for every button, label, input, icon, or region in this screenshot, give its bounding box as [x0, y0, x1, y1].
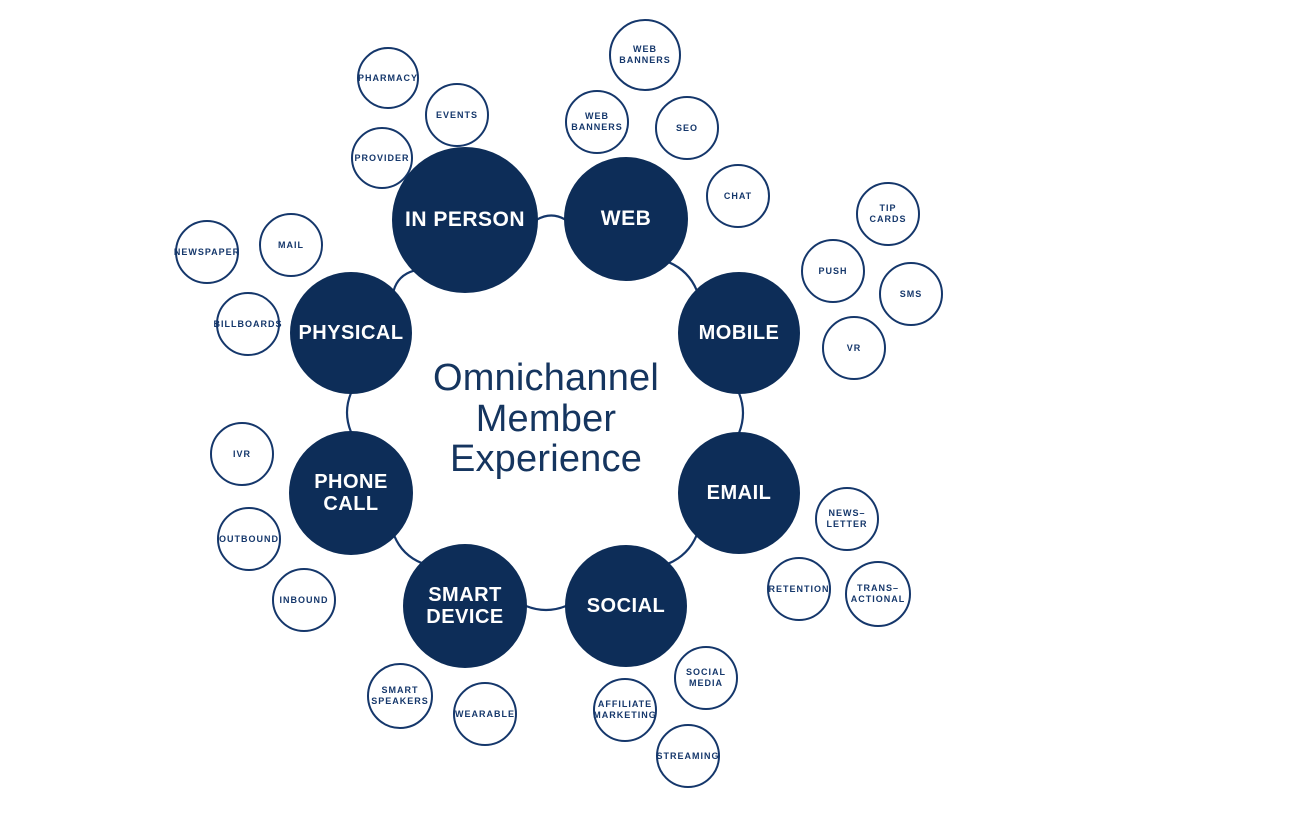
node-label: MOBILE — [695, 322, 784, 344]
connector-in-person-to-web — [537, 215, 565, 219]
node-label: PHARMACY — [354, 73, 422, 84]
node-label: SOCIAL MEDIA — [682, 667, 730, 688]
node-label: PHYSICAL — [294, 322, 407, 344]
spoke-node-newspaper[interactable]: NEWSPAPER — [175, 220, 239, 284]
connector-mobile-to-email — [739, 393, 743, 433]
spoke-node-newsletter[interactable]: NEWS– LETTER — [815, 487, 879, 551]
spoke-node-web-banners-left[interactable]: WEB BANNERS — [565, 90, 629, 154]
hub-node-social[interactable]: SOCIAL — [565, 545, 687, 667]
node-label: WEB — [597, 207, 656, 231]
spoke-node-web-banners-top[interactable]: WEB BANNERS — [609, 19, 681, 91]
connector-physical-to-in-person — [394, 271, 414, 291]
node-label: EVENTS — [432, 110, 482, 121]
spoke-node-seo[interactable]: SEO — [655, 96, 719, 160]
spoke-node-mail[interactable]: MAIL — [259, 213, 323, 277]
node-label: SOCIAL — [583, 595, 670, 617]
node-label: SMS — [896, 289, 927, 300]
spoke-node-retention[interactable]: RETENTION — [767, 557, 831, 621]
hub-node-email[interactable]: EMAIL — [678, 432, 800, 554]
spoke-node-smart-speakers[interactable]: SMART SPEAKERS — [367, 663, 433, 729]
node-label: SMART SPEAKERS — [367, 685, 433, 706]
connector-social-to-smart-device — [526, 606, 566, 610]
spoke-node-vr[interactable]: VR — [822, 316, 886, 380]
hub-node-physical[interactable]: PHYSICAL — [290, 272, 412, 394]
connector-smart-device-to-phone-call — [394, 536, 421, 563]
node-label: TIP CARDS — [858, 203, 918, 224]
node-label: EMAIL — [703, 482, 776, 504]
node-label: VR — [843, 343, 866, 354]
connector-email-to-social — [668, 535, 696, 563]
spoke-node-streaming[interactable]: STREAMING — [656, 724, 720, 788]
spoke-node-billboards[interactable]: BILLBOARDS — [216, 292, 280, 356]
omnichannel-diagram: Omnichannel Member Experience PHARMACYEV… — [0, 0, 1289, 821]
node-label: WEB BANNERS — [615, 44, 675, 65]
spoke-node-outbound[interactable]: OUTBOUND — [217, 507, 281, 571]
hub-node-web[interactable]: WEB — [564, 157, 688, 281]
node-label: IN PERSON — [401, 208, 529, 232]
hub-node-in-person[interactable]: IN PERSON — [392, 147, 538, 293]
node-label: NEWSPAPER — [170, 247, 244, 258]
spoke-node-social-media[interactable]: SOCIAL MEDIA — [674, 646, 738, 710]
hub-node-smart-device[interactable]: SMART DEVICE — [403, 544, 527, 668]
node-label: NEWS– LETTER — [823, 508, 872, 529]
hub-node-mobile[interactable]: MOBILE — [678, 272, 800, 394]
node-label: RETENTION — [765, 584, 834, 595]
spoke-node-transactional[interactable]: TRANS– ACTIONAL — [845, 561, 911, 627]
node-label: AFFILIATE MARKETING — [589, 699, 661, 720]
node-label: SEO — [672, 123, 702, 134]
node-label: WEARABLE — [451, 709, 519, 720]
spoke-node-pharmacy[interactable]: PHARMACY — [357, 47, 419, 109]
connector-phone-call-to-physical — [347, 393, 351, 432]
node-label: STREAMING — [653, 751, 724, 762]
hub-node-phone-call[interactable]: PHONE CALL — [289, 431, 413, 555]
spoke-node-wearable[interactable]: WEARABLE — [453, 682, 517, 746]
node-label: INBOUND — [276, 595, 333, 606]
spoke-node-inbound[interactable]: INBOUND — [272, 568, 336, 632]
spoke-node-events[interactable]: EVENTS — [425, 83, 489, 147]
spoke-node-sms[interactable]: SMS — [879, 262, 943, 326]
node-label: BILLBOARDS — [210, 319, 287, 330]
spoke-node-affiliate-marketing[interactable]: AFFILIATE MARKETING — [593, 678, 657, 742]
node-label: TRANS– ACTIONAL — [847, 583, 910, 604]
spoke-node-tip-cards[interactable]: TIP CARDS — [856, 182, 920, 246]
spoke-node-ivr[interactable]: IVR — [210, 422, 274, 486]
connector-web-to-mobile — [669, 262, 697, 290]
spoke-node-push[interactable]: PUSH — [801, 239, 865, 303]
node-label: SMART DEVICE — [422, 584, 507, 629]
node-label: CHAT — [720, 191, 756, 202]
node-label: PHONE CALL — [289, 471, 413, 516]
node-label: PROVIDER — [351, 153, 414, 164]
node-label: MAIL — [274, 240, 308, 251]
node-label: IVR — [229, 449, 255, 460]
center-title: Omnichannel Member Experience — [356, 358, 736, 480]
spoke-node-chat[interactable]: CHAT — [706, 164, 770, 228]
node-label: OUTBOUND — [215, 534, 283, 545]
node-label: WEB BANNERS — [567, 111, 627, 132]
node-label: PUSH — [814, 266, 851, 277]
